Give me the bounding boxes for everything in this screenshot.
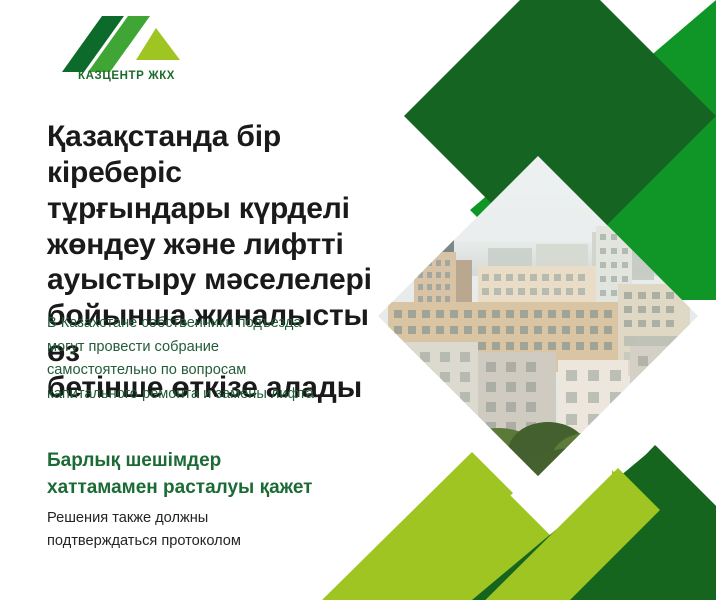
lime-band-right (420, 468, 660, 600)
kicker-kz-line-2: хаттамамен расталуы қажет (47, 475, 407, 502)
subheading-russian: В Казахстане собственники подъезда могут… (47, 312, 387, 407)
logo-bar-lime (136, 28, 180, 60)
photo-illustration (378, 156, 698, 476)
brand-logo: КАЗЦЕНТР ЖКХ (62, 14, 252, 96)
kicker-ru-line-1: Решения также должны (47, 507, 387, 530)
headline-line-4: ауыстыру мәселелері (47, 262, 392, 298)
kicker-russian: Решения также должны подтверждаться прот… (47, 507, 387, 553)
city-apartment-blocks-photo (378, 156, 698, 476)
kicker-kazakh: Барлық шешімдер хаттамамен расталуы қаже… (47, 448, 407, 502)
headline-line-2: тұрғындары күрделі (47, 191, 392, 227)
subheading-line-2: могут провести собрание (47, 336, 387, 360)
forest-triangle (472, 446, 716, 600)
kicker-kz-line-1: Барлық шешімдер (47, 448, 407, 475)
separator-guide (480, 468, 660, 600)
lime-green-band-inner (510, 470, 700, 600)
dark-green-triangle (450, 445, 716, 600)
poster-canvas: КАЗЦЕНТР ЖКХ (0, 0, 716, 600)
forest-triangle-body (412, 446, 716, 600)
subheading-line-3: самостоятельно по вопросам (47, 359, 387, 383)
kicker-ru-line-2: подтверждаться протоколом (47, 530, 387, 553)
band-notch (556, 470, 612, 553)
subheading-line-4: капитального ремонта и замены лифта (47, 383, 387, 407)
subheading-line-1: В Казахстане собственники подъезда (47, 312, 387, 336)
headline-line-3: жөндеу және лифтті (47, 227, 392, 263)
kazcentre-roof-logo-icon (62, 14, 190, 76)
headline-line-1: Қазақстанда бір кіреберіс (47, 119, 392, 191)
logo-wordmark: КАЗЦЕНТР ЖКХ (78, 70, 175, 82)
